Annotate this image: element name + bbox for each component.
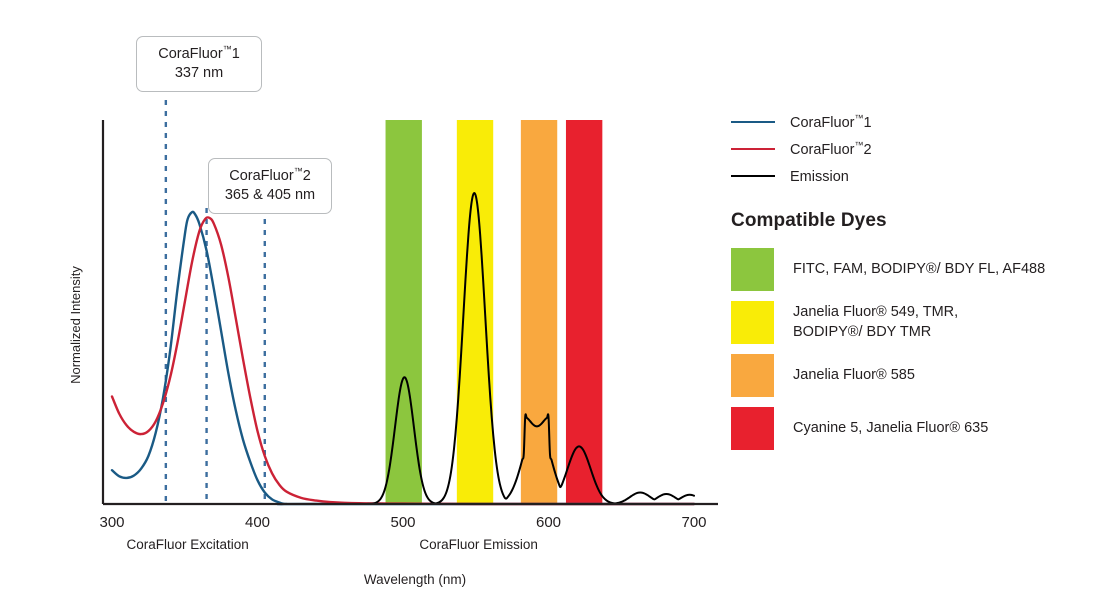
yellow-band [457, 120, 493, 504]
x-tick-label-500: 500 [390, 514, 415, 531]
callout-corafluor1-line2: 337 nm [149, 64, 249, 83]
dye-swatch-3 [731, 407, 774, 450]
callout-corafluor1-line1: CoraFluor™1 [149, 44, 249, 64]
x-tick-label-400: 400 [245, 514, 270, 531]
legend-series-row-0: CoraFluor™1 [731, 108, 1091, 135]
axis-section-label-emission: CoraFluor Emission [419, 537, 538, 552]
x-tick-label-300: 300 [99, 514, 124, 531]
dye-row-3: Cyanine 5, Janelia Fluor® 635 [731, 404, 1091, 453]
red-band [566, 120, 602, 504]
series-legend: CoraFluor™1CoraFluor™2Emission [731, 108, 1091, 189]
dye-label-0: FITC, FAM, BODIPY®/ BDY FL, AF488 [793, 260, 1045, 280]
dye-label-3: Cyanine 5, Janelia Fluor® 635 [793, 419, 988, 439]
dye-row-1: Janelia Fluor® 549, TMR,BODIPY®/ BDY TMR [731, 298, 1091, 347]
y-axis-title: Normalized Intensity [68, 266, 83, 384]
dye-label-line1: Janelia Fluor® 585 [793, 366, 915, 386]
compatible-dyes-title: Compatible Dyes [731, 210, 1091, 232]
legend-series-row-1: CoraFluor™2 [731, 135, 1091, 162]
chart-canvas: 300400500600700CoraFluor ExcitationCoraF… [0, 0, 1110, 612]
dye-swatch-2 [731, 354, 774, 397]
x-tick-label-700: 700 [681, 514, 706, 531]
compatible-dyes-list: FITC, FAM, BODIPY®/ BDY FL, AF488Janelia… [731, 245, 1091, 453]
orange-band [521, 120, 557, 504]
axis-section-label-excitation: CoraFluor Excitation [127, 537, 249, 552]
legend-series-swatch-0 [731, 121, 775, 123]
legend-panel: CoraFluor™1CoraFluor™2Emission Compatibl… [731, 108, 1091, 457]
legend-series-swatch-2 [731, 175, 775, 177]
dye-row-0: FITC, FAM, BODIPY®/ BDY FL, AF488 [731, 245, 1091, 294]
dye-label-1: Janelia Fluor® 549, TMR,BODIPY®/ BDY TMR [793, 303, 958, 342]
dye-label-line1: Janelia Fluor® 549, TMR, [793, 303, 958, 323]
legend-series-label-2: Emission [790, 167, 849, 185]
callout-corafluor2: CoraFluor™2 365 & 405 nm [208, 158, 332, 214]
dye-label-line2: BODIPY®/ BDY TMR [793, 323, 958, 343]
dye-label-line1: Cyanine 5, Janelia Fluor® 635 [793, 419, 988, 439]
callout-corafluor1: CoraFluor™1 337 nm [136, 36, 262, 92]
legend-series-label-0: CoraFluor™1 [790, 113, 872, 131]
legend-series-row-2: Emission [731, 162, 1091, 189]
x-axis-title: Wavelength (nm) [364, 572, 466, 587]
legend-series-label-1: CoraFluor™2 [790, 140, 872, 158]
legend-series-swatch-1 [731, 148, 775, 150]
dye-label-2: Janelia Fluor® 585 [793, 366, 915, 386]
dye-row-2: Janelia Fluor® 585 [731, 351, 1091, 400]
dye-label-line1: FITC, FAM, BODIPY®/ BDY FL, AF488 [793, 260, 1045, 280]
x-tick-label-600: 600 [536, 514, 561, 531]
dye-swatch-1 [731, 301, 774, 344]
dye-swatch-0 [731, 248, 774, 291]
callout-corafluor2-line1: CoraFluor™2 [221, 166, 319, 186]
callout-corafluor2-line2: 365 & 405 nm [221, 186, 319, 205]
